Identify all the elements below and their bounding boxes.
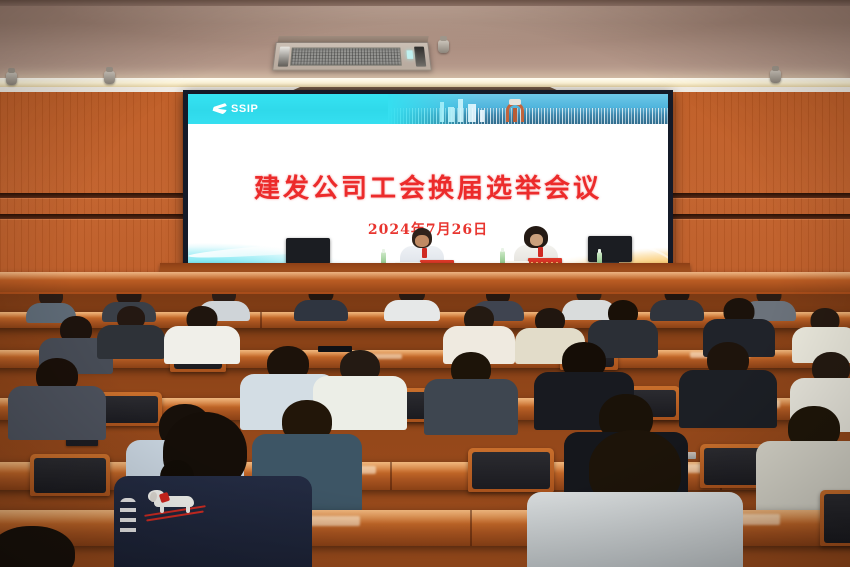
sculpture-stem xyxy=(513,108,517,122)
ssip-logo: SSIP xyxy=(213,102,258,115)
ac-grille-icon xyxy=(290,48,402,66)
audience-person xyxy=(382,294,442,320)
presidium-right-badge xyxy=(538,247,543,257)
wall-groove xyxy=(668,214,850,219)
skyline-tower xyxy=(480,110,484,122)
skyline-banner-image xyxy=(388,94,668,124)
slide-header-band: SSIP xyxy=(188,94,668,124)
person-torso xyxy=(97,325,165,359)
cove-light-strip xyxy=(0,78,850,87)
ceiling-edge xyxy=(0,0,850,6)
ssip-s-mark-icon xyxy=(213,102,227,115)
desk-seam xyxy=(470,510,472,546)
ceiling-spotlight-icon xyxy=(770,70,781,83)
presidium-left-face xyxy=(415,235,429,247)
person-torso xyxy=(8,386,106,440)
slide-title: 建发公司工会换届选举会议 xyxy=(188,168,668,205)
ac-vane-left-icon xyxy=(278,47,290,67)
ac-vane-right-icon xyxy=(414,47,426,67)
dog-leg xyxy=(186,505,190,513)
skyline-tower xyxy=(440,102,444,122)
dachshund-dog-graphic xyxy=(148,490,202,516)
skyline-tower xyxy=(448,107,454,122)
audience-person xyxy=(95,306,167,358)
wall-groove xyxy=(0,214,190,219)
presidium-left-badge xyxy=(422,248,427,258)
presidium-monitor-right xyxy=(588,236,632,262)
wall-groove xyxy=(668,193,850,198)
foreground-person xyxy=(522,430,748,567)
chair-pad xyxy=(34,458,106,493)
audience-person xyxy=(162,306,242,362)
foreground-person-shirt xyxy=(114,476,312,567)
wall-groove xyxy=(0,193,190,198)
desk-seam xyxy=(390,462,392,490)
ceiling-spotlight-icon xyxy=(6,72,17,85)
chair-pad xyxy=(824,494,850,543)
skyline-buildings xyxy=(388,108,668,124)
meeting-room-photo: SSIP 建发公司工会换届选举会议 2024年7月26日 xyxy=(0,0,850,567)
gate-of-the-orient-sculpture-icon xyxy=(506,100,524,122)
person-torso xyxy=(294,300,348,321)
audience-area xyxy=(0,294,850,567)
foreground-person-shirt xyxy=(527,492,743,567)
chair xyxy=(820,490,850,546)
desk-seam xyxy=(260,312,262,328)
presidium-monitor-left xyxy=(286,238,330,264)
person-torso xyxy=(424,379,518,435)
foreground-person xyxy=(108,412,318,567)
sleeve-stripes xyxy=(120,498,136,538)
person-torso xyxy=(164,326,240,364)
ac-led-icon xyxy=(406,50,413,59)
skyline-tower xyxy=(468,104,476,122)
sculpture-top xyxy=(509,99,521,105)
ssip-logo-text: SSIP xyxy=(231,103,258,115)
ceiling-cassette-ac-icon xyxy=(272,42,432,71)
audience-person xyxy=(420,352,522,432)
chair xyxy=(30,454,110,496)
audience-person-partial xyxy=(0,526,80,567)
presidium-right-face xyxy=(530,234,543,246)
person-torso xyxy=(384,300,440,321)
ceiling-spotlight-icon xyxy=(438,40,449,53)
dog-leg xyxy=(160,505,164,513)
audience-person xyxy=(292,294,350,320)
skyline-tower xyxy=(458,99,463,122)
person-head xyxy=(0,526,75,567)
head-table-gloss xyxy=(0,272,850,280)
audience-person xyxy=(4,358,110,436)
ceiling-spotlight-icon xyxy=(104,71,115,84)
head-table-top xyxy=(0,272,850,294)
